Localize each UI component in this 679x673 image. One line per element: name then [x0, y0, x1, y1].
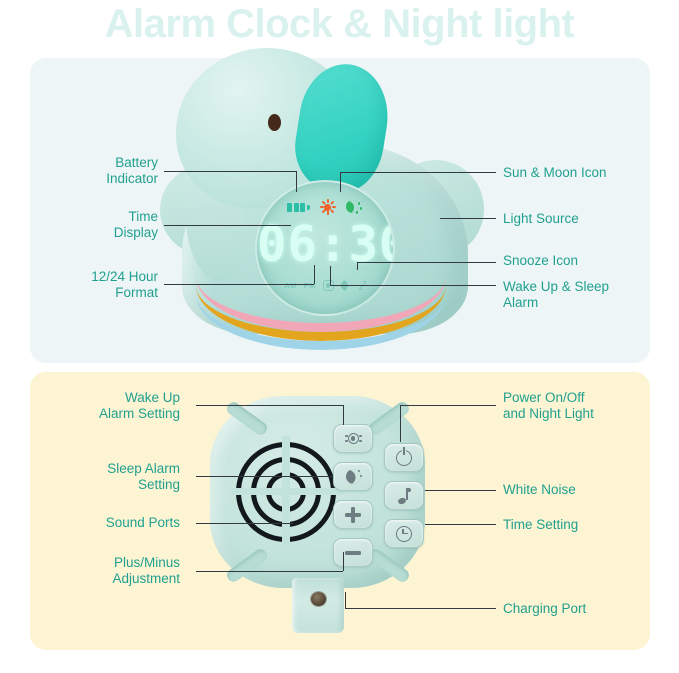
label-sun-moon-icon: Sun & Moon Icon	[503, 165, 663, 181]
clock-icon	[396, 526, 412, 542]
label-light-source: Light Source	[503, 211, 663, 227]
leader-wake-up-alarm	[196, 405, 343, 406]
music-note-icon	[397, 488, 411, 504]
label-sound-ports: Sound Ports	[20, 515, 180, 531]
sun-icon	[321, 200, 335, 214]
label-time-setting: Time Setting	[503, 517, 668, 533]
leader-sun-moon	[434, 172, 496, 173]
sound-ports-grille	[234, 439, 338, 545]
leader-charging-port-v	[345, 592, 346, 608]
leader-charging-port	[345, 608, 496, 609]
leader-battery	[164, 171, 296, 172]
alarm-button[interactable]	[333, 424, 373, 453]
minus-button[interactable]	[333, 538, 373, 567]
charging-port	[311, 592, 326, 606]
leader-sound-ports	[196, 523, 293, 524]
leader-power	[400, 405, 496, 406]
leader-wake-sleep-v	[330, 266, 331, 285]
leader-time-display	[164, 225, 291, 226]
label-sleep-alarm-setting: Sleep Alarm Setting	[20, 461, 180, 493]
label-hour-format: 12/24 Hour Format	[20, 269, 158, 301]
leader-white-noise	[425, 490, 496, 491]
leader-wake-sleep	[330, 285, 496, 286]
leader-wake-up-alarm-v	[343, 405, 344, 425]
label-wake-up-alarm-setting: Wake Up Alarm Setting	[20, 390, 180, 422]
plus-icon	[345, 507, 361, 523]
am-indicator: AM	[284, 281, 296, 290]
leader-sun-moon-h	[340, 172, 434, 173]
leader-sleep-alarm	[196, 476, 332, 477]
plus-button[interactable]	[333, 500, 373, 529]
moon-icon	[346, 469, 361, 484]
power-button[interactable]	[384, 443, 424, 472]
time-button[interactable]	[384, 519, 424, 548]
lcd-top-indicator-row	[257, 200, 393, 214]
leader-snooze-v	[357, 262, 358, 270]
label-plus-minus-adjustment: Plus/Minus Adjustment	[20, 555, 180, 587]
white-noise-button[interactable]	[384, 481, 424, 510]
label-white-noise: White Noise	[503, 482, 668, 498]
alarm-clock-back-view	[210, 396, 425, 638]
alarm-clock-front-view: 06:30 AM PM zZ	[150, 44, 490, 354]
corner-notch-bottom-left	[225, 547, 270, 585]
label-time-display: Time Display	[20, 209, 158, 241]
label-charging-port: Charging Port	[503, 601, 668, 617]
page-title: Alarm Clock & Night light	[0, 2, 679, 47]
label-power-night-light: Power On/Off and Night Light	[503, 390, 668, 422]
leader-hour-format	[164, 284, 314, 285]
moon-icon	[346, 200, 363, 214]
elephant-eye	[268, 114, 281, 131]
leader-snooze-h	[357, 262, 425, 263]
label-battery-indicator: Battery Indicator	[20, 155, 158, 187]
lcd-display: 06:30 AM PM zZ	[255, 180, 395, 316]
leader-power-v	[400, 405, 401, 442]
sleep-button[interactable]	[333, 462, 373, 491]
alarm-bell-icon	[345, 431, 362, 446]
leader-battery-v	[296, 171, 297, 192]
leader-snooze	[425, 262, 496, 263]
back-body	[210, 396, 425, 588]
leader-plus-minus-v	[343, 552, 344, 571]
device-stand	[292, 578, 344, 633]
label-wake-sleep-alarm: Wake Up & Sleep Alarm	[503, 279, 663, 311]
leader-light-source	[440, 218, 496, 219]
leader-sun-moon-v	[340, 172, 341, 192]
minus-icon	[345, 545, 361, 561]
leader-time-setting	[425, 524, 496, 525]
leader-plus-minus	[196, 571, 343, 572]
battery-icon	[287, 203, 310, 212]
corner-notch-bottom-right	[367, 547, 412, 585]
power-icon	[396, 450, 412, 466]
label-snooze-icon: Snooze Icon	[503, 253, 663, 269]
leader-hour-format-v	[314, 265, 315, 284]
